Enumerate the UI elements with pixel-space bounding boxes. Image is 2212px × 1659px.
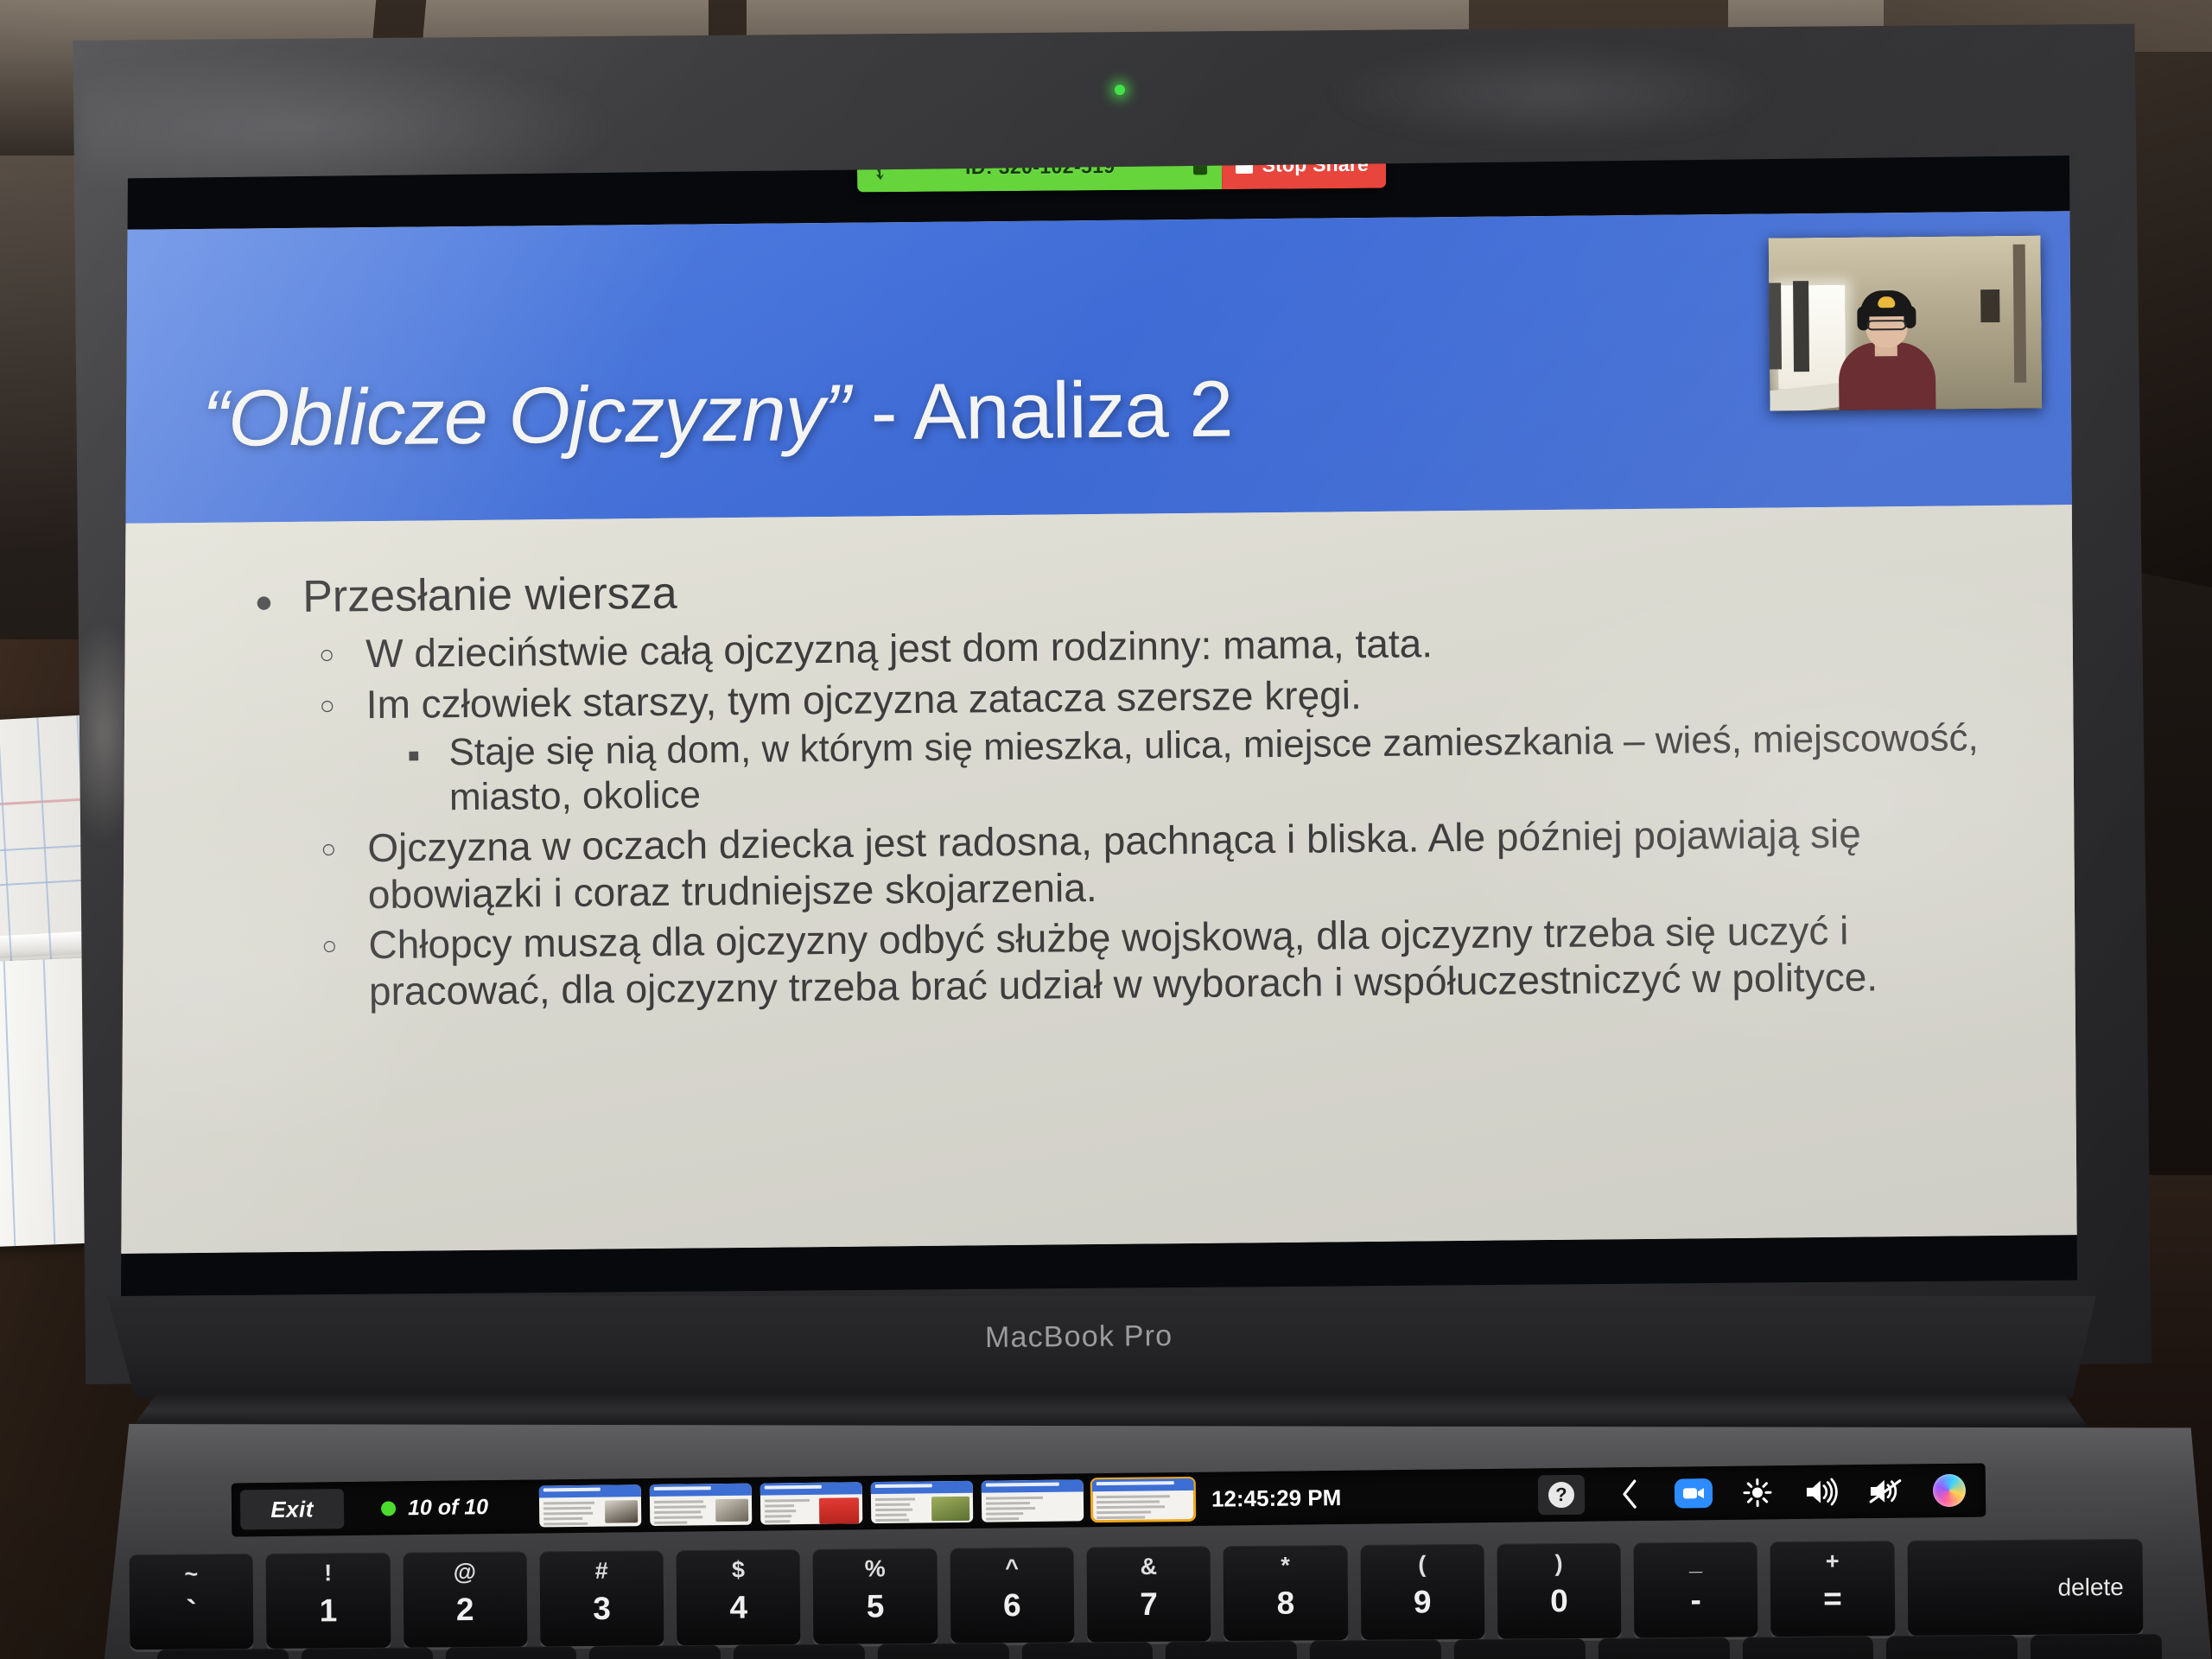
key-3[interactable]: #3 [539,1550,664,1646]
key-upper: # [539,1557,664,1585]
bullet-marker-icon: ■ [408,730,420,765]
key-lower: 0 [1497,1583,1622,1620]
recording-dot-icon [381,1501,396,1516]
slide-title-rest: - Analiza 2 [849,365,1233,457]
help-button[interactable]: ? [1538,1475,1586,1516]
key-equals[interactable]: += [1770,1541,1895,1637]
slide-title-quoted: “Oblicze Ojczyzny” [202,369,850,463]
key-lower: 1 [266,1592,391,1630]
bullet-text: Chłopcy muszą dla ojczyzny odbyć służbę … [368,906,2029,1015]
key-upper: + [1770,1548,1895,1575]
key-o[interactable] [1454,1638,1586,1659]
zoom-video-icon[interactable] [1675,1474,1713,1512]
key-lower: 7 [1087,1586,1211,1623]
key-7[interactable]: &7 [1086,1546,1211,1642]
slide-title: “Oblicze Ojczyzny” - Analiza 2 [202,365,1233,465]
glasses-icon [1866,320,1906,330]
key-lower: ` [130,1593,254,1630]
slide-thumbnail-strip[interactable] [539,1478,1194,1528]
bullet-marker-icon: ● [254,572,273,617]
bullet-marker-icon: ○ [319,631,335,669]
key-upper: % [813,1555,938,1583]
key-upper: @ [403,1559,527,1586]
key-q[interactable] [302,1648,433,1659]
key-2[interactable]: @2 [403,1552,527,1648]
bullet-marker-icon: ○ [321,824,337,862]
key-upper: ~ [130,1560,254,1588]
key-0[interactable]: )0 [1497,1543,1621,1639]
key-r[interactable] [734,1644,865,1659]
touchbar-clock: 12:45:29 PM [1211,1484,1342,1512]
key-i[interactable] [1310,1639,1441,1659]
key-backtick[interactable]: ~` [130,1554,254,1649]
key-p[interactable] [1599,1637,1730,1659]
bullet-level-1: ● Przesłanie wiersza [254,556,2024,623]
presentation-slide[interactable]: “Oblicze Ojczyzny” - Analiza 2 [107,211,2091,1254]
bullet-level-3: ■ Staje się nią dom, w którym się mieszk… [408,715,2027,820]
bullet-level-2: ○ Ojczyzna w oczach dziecka jest radosna… [321,808,2028,918]
key-backslash[interactable] [2031,1634,2162,1659]
volume-up-icon[interactable] [1802,1472,1840,1510]
key-y[interactable] [1021,1642,1153,1659]
key-lower: 9 [1360,1584,1484,1621]
touchbar-controls[interactable]: ? [1538,1471,1977,1516]
slide-thumb-4[interactable] [871,1481,974,1523]
bullet-level-2: ○ Chłopcy muszą dla ojczyzny odbyć służb… [321,906,2029,1015]
self-view-video[interactable] [1769,236,2043,411]
key-lower: - [1634,1581,1758,1618]
key-upper: _ [1634,1548,1758,1576]
bullet-marker-icon: ○ [319,681,335,719]
key-t[interactable] [878,1643,1009,1659]
bullet-text: Przesłanie wiersza [302,556,2025,622]
slide-body: ● Przesłanie wiersza ○ W dzieciństwie ca… [111,505,2092,1254]
slide-thumb-5[interactable] [982,1479,1084,1522]
key-upper: & [1087,1553,1211,1580]
key-upper: ! [266,1560,391,1587]
slide-thumb-1[interactable] [539,1484,642,1527]
bullet-text: Ojczyzna w oczach dziecka jest radosna, … [367,808,2028,918]
help-label: ? [1548,1482,1574,1508]
key-bracket-left[interactable] [1742,1637,1873,1659]
key-upper: * [1224,1552,1348,1580]
brightness-icon[interactable] [1738,1473,1777,1511]
key-upper: ^ [950,1554,1074,1582]
key-minus[interactable]: _- [1634,1541,1758,1637]
camera-indicator-icon [1115,85,1125,95]
key-5[interactable]: %5 [813,1548,938,1644]
key-bracket-right[interactable] [1886,1635,2018,1659]
key-u[interactable] [1166,1641,1297,1659]
key-lower: 4 [677,1589,801,1626]
key-8[interactable]: *8 [1224,1545,1348,1641]
key-upper: ( [1360,1551,1484,1579]
slide-banner: “Oblicze Ojczyzny” - Analiza 2 [107,211,2084,524]
key-1[interactable]: !1 [266,1553,391,1649]
bullet-text: Staje się nią dom, w którym się mieszka,… [448,715,2027,819]
slide-thumb-3[interactable] [760,1482,863,1524]
key-lower: delete [1907,1573,2142,1603]
key-lower: 5 [813,1588,938,1625]
macbook-pro-wordmark: MacBook Pro [985,1319,1173,1355]
key-upper: $ [677,1556,801,1584]
key-lower: = [1770,1580,1895,1618]
exit-presentation-button[interactable]: Exit [240,1489,345,1529]
key-6[interactable]: ^6 [950,1548,1074,1643]
key-delete[interactable]: delete [1907,1539,2143,1636]
key-lower: 6 [950,1587,1075,1624]
key-4[interactable]: $4 [677,1549,801,1645]
key-lower: 2 [403,1592,527,1629]
macbook-pro: ID: 320-102-519 Stop Share “Oblicze Ojcz… [0,0,2212,1659]
key-upper: ) [1497,1550,1621,1578]
key-lower: 3 [540,1590,664,1627]
volume-mute-icon[interactable] [1866,1472,1904,1510]
chevron-left-icon[interactable] [1611,1475,1649,1513]
photo-scene: ID: 320-102-519 Stop Share “Oblicze Ojcz… [0,0,2212,1659]
siri-icon[interactable] [1930,1471,1968,1510]
key-9[interactable]: (9 [1360,1544,1484,1640]
slide-progress-label: 10 of 10 [408,1495,488,1521]
slide-progress: 10 of 10 [344,1487,526,1529]
slide-thumb-2[interactable] [650,1484,753,1526]
laptop-display: ID: 320-102-519 Stop Share “Oblicze Ojcz… [121,156,2077,1296]
key-w[interactable] [445,1646,576,1659]
slide-thumb-6[interactable] [1092,1478,1195,1521]
key-tab[interactable] [157,1649,289,1659]
bullet-marker-icon: ○ [321,922,338,960]
key-lower: 8 [1224,1585,1348,1622]
key-e[interactable] [589,1645,721,1659]
